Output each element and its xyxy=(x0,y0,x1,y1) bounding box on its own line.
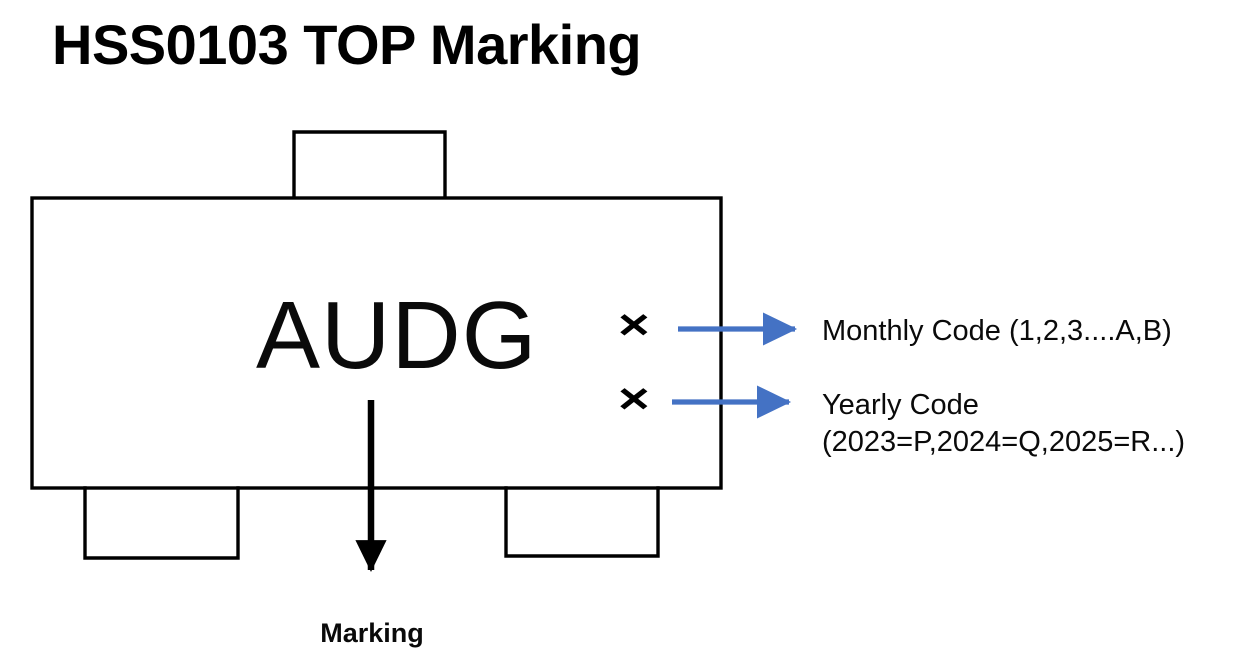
monthly-code-annotation-line-1: Monthly Code (1,2,3....A,B) xyxy=(822,313,1172,350)
yearly-code-annotation: Yearly Code (2023=P,2024=Q,2025=R...) xyxy=(822,387,1185,461)
yearly-code-x-mark: × xyxy=(618,377,650,419)
yearly-code-annotation-line-1: Yearly Code xyxy=(822,387,1185,424)
marking-diagram-page: HSS0103 TOP Marking xyxy=(0,0,1257,668)
package-bottom-lead-left xyxy=(85,488,238,558)
monthly-code-annotation: Monthly Code (1,2,3....A,B) xyxy=(822,313,1172,350)
package-marking-code: AUDG xyxy=(256,286,537,386)
package-bottom-lead-right xyxy=(506,488,658,556)
package-top-tab xyxy=(294,132,445,198)
monthly-code-x-mark: × xyxy=(618,303,650,345)
yearly-code-annotation-line-2: (2023=P,2024=Q,2025=R...) xyxy=(822,424,1185,461)
marking-callout-label: Marking xyxy=(250,616,494,650)
